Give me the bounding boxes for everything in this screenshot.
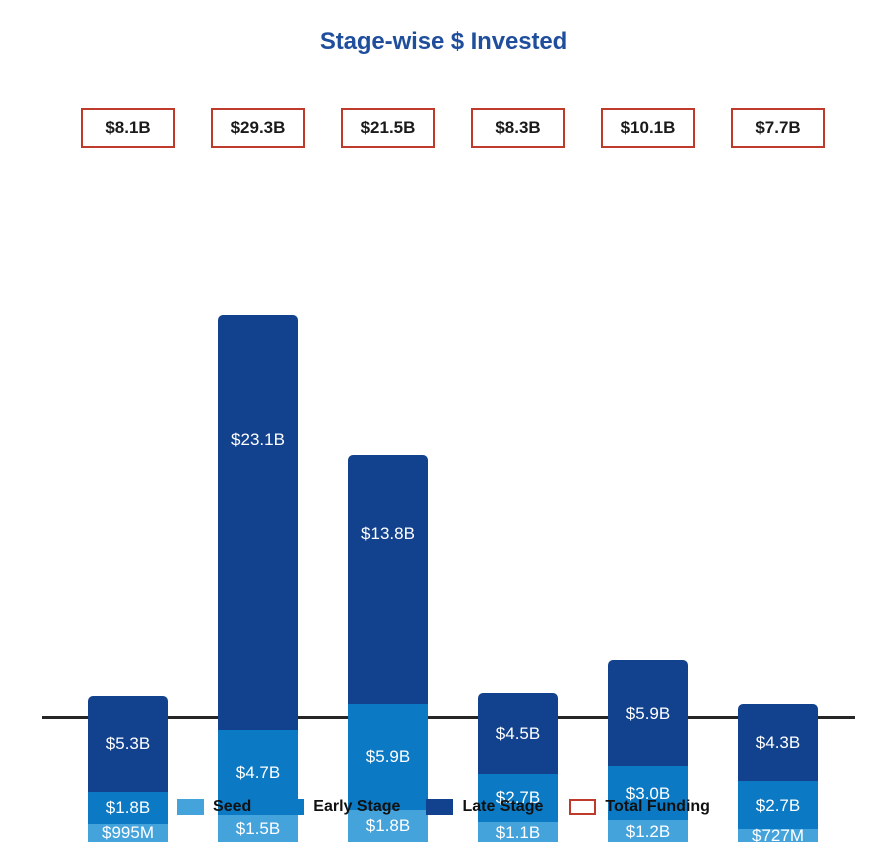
- bar-segment-label: $727M: [752, 827, 804, 842]
- legend-swatch-icon: [177, 799, 204, 815]
- bar-stack: $13.8B$5.9B$1.8B: [348, 455, 428, 842]
- bar-segment-label: $5.9B: [626, 705, 670, 722]
- bar-column[interactable]: $23.1B$4.7B$1.5B: [218, 126, 298, 842]
- bar-segment-label: $13.8B: [348, 525, 428, 542]
- legend-swatch-icon: [569, 799, 596, 815]
- plot-area: 9M 20209M 20219M 20229M 20239M 20249M 20…: [0, 0, 887, 842]
- bar-stack: $5.3B$1.8B$995M: [88, 696, 168, 842]
- bar-segment[interactable]: $5.9B: [348, 704, 428, 810]
- bar-segment[interactable]: $13.8B: [348, 455, 428, 703]
- bar-segment[interactable]: $23.1B: [218, 315, 298, 730]
- bar-segment-label: $4.5B: [496, 725, 540, 742]
- legend-item[interactable]: Seed: [177, 798, 251, 816]
- bar-column[interactable]: $4.5B$2.7B$1.1B: [478, 126, 558, 842]
- bar-segment-label: $995M: [102, 824, 154, 841]
- bar-segment[interactable]: $995M: [88, 824, 168, 842]
- bar-segment-label: $5.9B: [366, 748, 410, 765]
- legend-swatch-icon: [277, 799, 304, 815]
- legend-label: Total Funding: [605, 798, 710, 816]
- bar-segment-label: $1.1B: [496, 824, 540, 841]
- legend-swatch-icon: [426, 799, 453, 815]
- chart-container: Stage-wise $ Invested 9M 20209M 20219M 2…: [0, 0, 887, 842]
- bar-segment-label: $1.8B: [366, 817, 410, 834]
- legend-item[interactable]: Early Stage: [277, 798, 400, 816]
- bar-segment[interactable]: $5.3B: [88, 696, 168, 791]
- bar-segment-label: $1.5B: [236, 820, 280, 837]
- legend-label: Seed: [213, 798, 251, 816]
- bar-segment-label: $23.1B: [218, 431, 298, 448]
- bar-segment-label: $1.2B: [626, 823, 670, 840]
- bar-stack: $23.1B$4.7B$1.5B: [218, 315, 298, 842]
- bar-stack: $4.3B$2.7B$727M: [738, 704, 818, 842]
- bar-column[interactable]: $5.9B$3.0B$1.2B: [608, 126, 688, 842]
- bar-segment[interactable]: $727M: [738, 829, 818, 842]
- bar-segment-label: $5.3B: [106, 735, 150, 752]
- bar-segment[interactable]: $5.9B: [608, 660, 688, 766]
- bar-segment[interactable]: $4.5B: [478, 693, 558, 774]
- legend-label: Late Stage: [462, 798, 543, 816]
- bar-column[interactable]: $4.3B$2.7B$727M: [738, 126, 818, 842]
- bar-segment[interactable]: $1.2B: [608, 820, 688, 842]
- bar-segment[interactable]: $4.3B: [738, 704, 818, 781]
- bar-segment-label: $4.3B: [756, 734, 800, 751]
- bar-column[interactable]: $13.8B$5.9B$1.8B: [348, 126, 428, 842]
- bar-stack: $4.5B$2.7B$1.1B: [478, 693, 558, 842]
- bar-segment-label: $4.7B: [236, 764, 280, 781]
- bar-column[interactable]: $5.3B$1.8B$995M: [88, 126, 168, 842]
- bar-segment[interactable]: $1.1B: [478, 822, 558, 842]
- bar-segment[interactable]: $1.5B: [218, 815, 298, 842]
- legend-item[interactable]: Total Funding: [569, 798, 710, 816]
- legend-item[interactable]: Late Stage: [426, 798, 543, 816]
- chart-legend: SeedEarly StageLate StageTotal Funding: [0, 798, 887, 816]
- legend-label: Early Stage: [313, 798, 400, 816]
